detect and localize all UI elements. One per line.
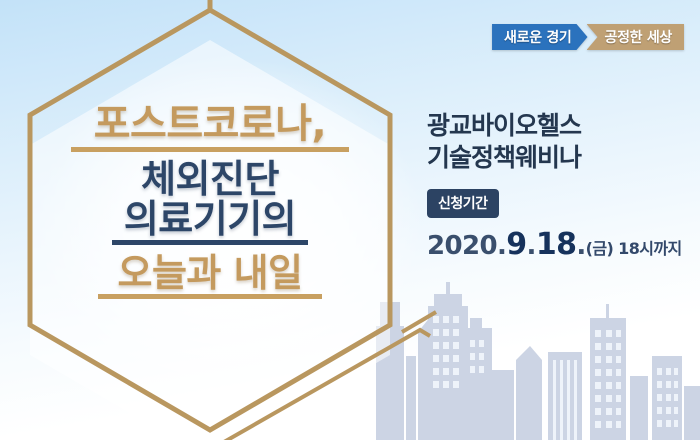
application-deadline-date: 2020.9.18.(금) 18시까지	[427, 227, 693, 262]
date-separator-1: .	[497, 231, 506, 261]
promo-banner: 새로운 경기 공정한 세상 포스트코로나, 체외진단 의료기기의 오늘과 내일 …	[0, 0, 700, 440]
headline-line-post-corona: 포스트코로나,	[71, 104, 349, 152]
event-title: 광교바이오헬스 기술정책웨비나	[427, 110, 693, 173]
slogan-badge-group: 새로운 경기 공정한 세상	[492, 24, 684, 50]
event-info-column: 광교바이오헬스 기술정책웨비나 신청기간 2020.9.18.(금) 18시까지	[427, 110, 693, 262]
date-month: 9	[506, 227, 526, 262]
event-title-line1: 광교바이오헬스	[427, 111, 581, 140]
headline-line-medical-devices: 의료기기의	[112, 200, 308, 245]
slogan-badge-new-gyeonggi: 새로운 경기	[492, 24, 587, 50]
slogan-badge-fair-world: 공정한 세상	[587, 24, 684, 50]
headline-block: 포스트코로나, 체외진단 의료기기의 오늘과 내일	[0, 104, 420, 299]
headline-line-today-and-tomorrow: 오늘과 내일	[98, 254, 322, 299]
date-weekday-and-time: (금) 18시까지	[586, 239, 682, 258]
city-skyline-illustration	[370, 260, 700, 440]
event-title-line2: 기술정책웨비나	[427, 143, 581, 172]
date-day: 18	[536, 227, 577, 262]
date-separator-3: .	[576, 231, 585, 261]
background-glow	[40, 60, 420, 390]
date-separator-2: .	[527, 231, 536, 261]
application-period-badge: 신청기간	[427, 189, 499, 218]
date-year: 2020	[427, 231, 497, 261]
headline-line-in-vitro-diagnostics: 체외진단	[0, 160, 420, 198]
